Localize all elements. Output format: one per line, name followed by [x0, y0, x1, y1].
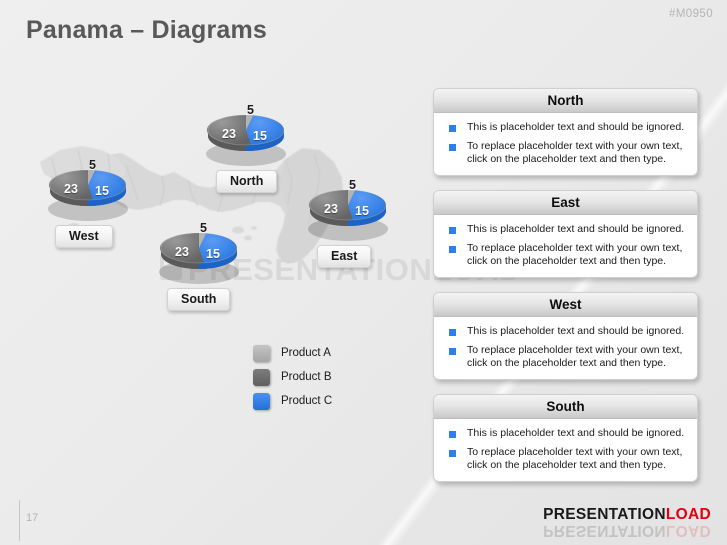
panel-east[interactable]: East This is placeholder text and should… — [433, 190, 698, 278]
bullet-square-icon — [449, 329, 456, 336]
bullet-square-icon — [449, 144, 456, 151]
bullet-item: This is placeholder text and should be i… — [444, 223, 687, 236]
panel-header-east: East — [434, 191, 697, 215]
bullet-square-icon — [449, 348, 456, 355]
legend-swatch-product-b — [253, 369, 270, 386]
bullet-square-icon — [449, 450, 456, 457]
pie-label-north[interactable]: North — [216, 170, 277, 193]
bullet-item: To replace placeholder text with your ow… — [444, 344, 687, 370]
legend-label-product-b: Product B — [281, 371, 332, 383]
legend-swatch-product-a — [253, 345, 270, 362]
panel-north[interactable]: North This is placeholder text and shoul… — [433, 88, 698, 176]
panel-header-north: North — [434, 89, 697, 113]
chart-legend: Product A Product B Product C — [253, 341, 332, 413]
bullet-square-icon — [449, 125, 456, 132]
pie-label-east[interactable]: East — [317, 245, 371, 268]
brand-presentation-reflection: PRESENTATION — [543, 522, 666, 539]
legend-label-product-a: Product A — [281, 347, 331, 359]
panel-body-east: This is placeholder text and should be i… — [434, 215, 697, 277]
bullet-text: To replace placeholder text with your ow… — [467, 242, 687, 268]
pie-chart-east[interactable]: 23 15 5 — [307, 185, 389, 243]
bullet-text: To replace placeholder text with your ow… — [467, 140, 687, 166]
slide-canvas: Panama – Diagrams #M0950 PRESENTATIONLOA… — [0, 0, 727, 545]
pie-chart-south[interactable]: 23 15 5 — [158, 228, 240, 286]
panel-body-north: This is placeholder text and should be i… — [434, 113, 697, 175]
pie-label-west[interactable]: West — [55, 225, 113, 248]
panel-header-west: West — [434, 293, 697, 317]
bullet-text: This is placeholder text and should be i… — [467, 325, 684, 338]
bullet-item: To replace placeholder text with your ow… — [444, 140, 687, 166]
pie-unit-north[interactable]: 23 15 5 North — [205, 110, 315, 193]
bullet-square-icon — [449, 431, 456, 438]
panel-body-south: This is placeholder text and should be i… — [434, 419, 697, 481]
bullet-item: To replace placeholder text with your ow… — [444, 242, 687, 268]
page-title: Panama – Diagrams — [26, 16, 267, 45]
pie-chart-north[interactable]: 23 15 5 — [205, 110, 287, 168]
legend-item-product-b[interactable]: Product B — [253, 365, 332, 389]
panel-south[interactable]: South This is placeholder text and shoul… — [433, 394, 698, 482]
bullet-item: This is placeholder text and should be i… — [444, 121, 687, 134]
bullet-text: To replace placeholder text with your ow… — [467, 446, 687, 472]
footer-divider — [19, 500, 20, 541]
bullet-item: This is placeholder text and should be i… — [444, 325, 687, 338]
bullet-item: To replace placeholder text with your ow… — [444, 446, 687, 472]
panel-body-west: This is placeholder text and should be i… — [434, 317, 697, 379]
bullet-square-icon — [449, 246, 456, 253]
legend-item-product-a[interactable]: Product A — [253, 341, 332, 365]
bullet-text: To replace placeholder text with your ow… — [467, 344, 687, 370]
bullet-item: This is placeholder text and should be i… — [444, 427, 687, 440]
pie-label-south[interactable]: South — [167, 288, 230, 311]
brand-logo-reflection: PRESENTATIONLOAD — [543, 521, 711, 539]
slide-id-label: #M0950 — [669, 8, 713, 20]
page-number: 17 — [26, 512, 38, 524]
bullet-text: This is placeholder text and should be i… — [467, 223, 684, 236]
bullet-square-icon — [449, 227, 456, 234]
legend-item-product-c[interactable]: Product C — [253, 389, 332, 413]
panel-header-south: South — [434, 395, 697, 419]
legend-swatch-product-c — [253, 393, 270, 410]
panel-west[interactable]: West This is placeholder text and should… — [433, 292, 698, 380]
legend-label-product-c: Product C — [281, 395, 332, 407]
pie-unit-east[interactable]: 23 15 5 East — [307, 185, 417, 268]
bullet-text: This is placeholder text and should be i… — [467, 427, 684, 440]
bullet-text: This is placeholder text and should be i… — [467, 121, 684, 134]
pie-unit-west[interactable]: 23 15 5 West — [47, 165, 157, 248]
brand-load-reflection: LOAD — [666, 522, 711, 539]
pie-chart-west[interactable]: 23 15 5 — [47, 165, 129, 223]
pie-unit-south[interactable]: 23 15 5 South — [158, 228, 268, 311]
